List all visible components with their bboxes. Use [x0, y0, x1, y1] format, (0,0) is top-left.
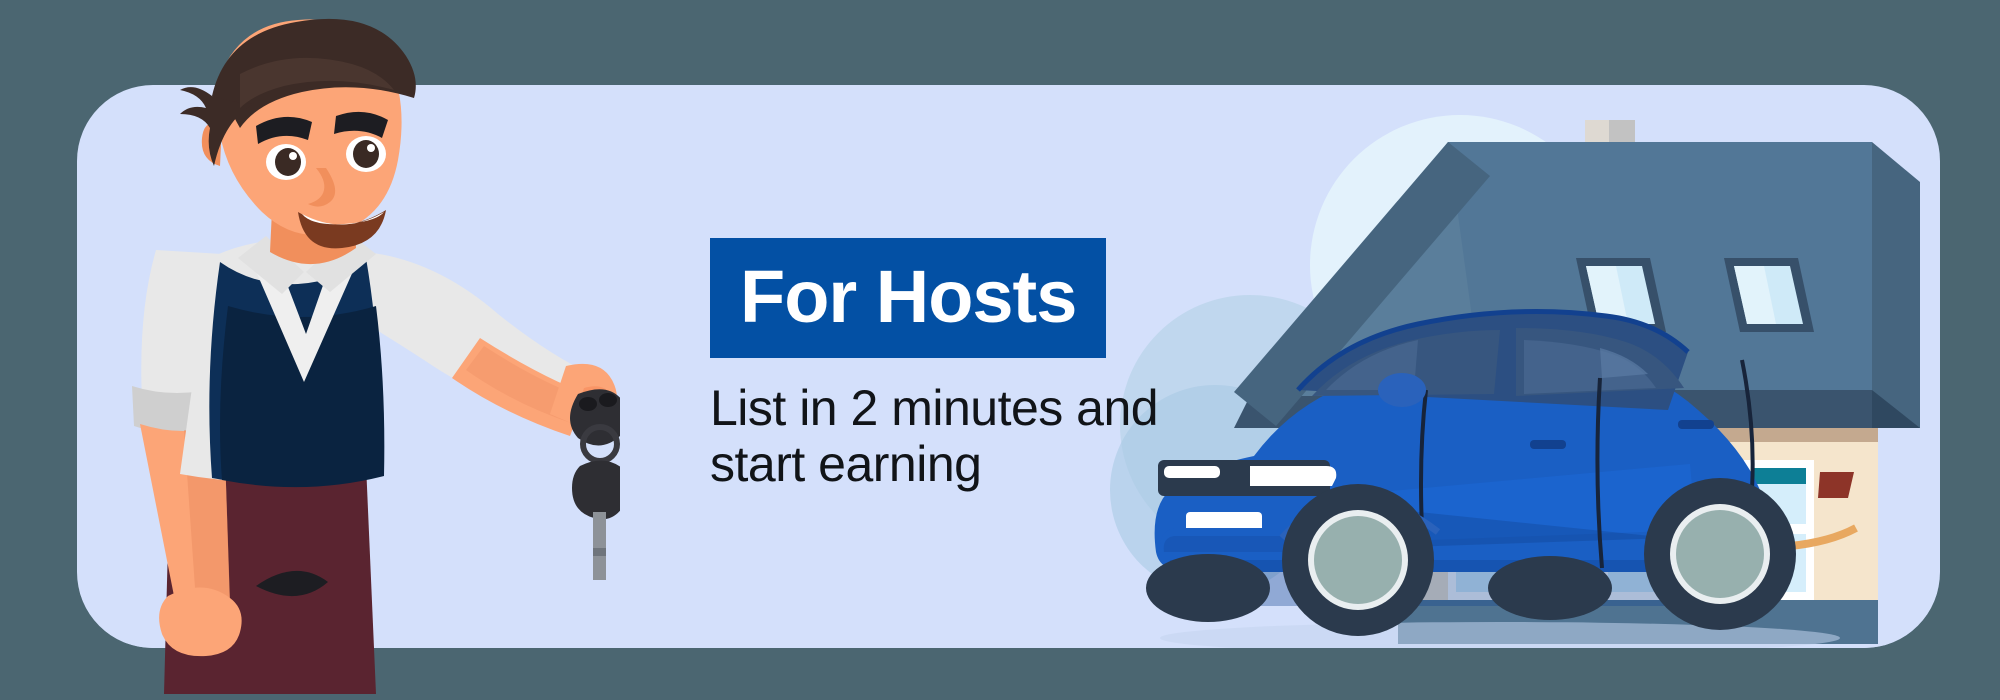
- banner-subtitle: List in 2 minutes and start earning: [710, 380, 1180, 492]
- character-head: [180, 19, 416, 264]
- text-block: For Hosts List in 2 minutes and start ea…: [710, 238, 1230, 492]
- character-body: [132, 232, 617, 694]
- host-character-illustration: [60, 0, 620, 700]
- for-hosts-badge[interactable]: For Hosts: [710, 238, 1106, 358]
- car-wheel-rear: [1644, 478, 1796, 630]
- house-and-car-illustration: [1130, 60, 2000, 700]
- car-wheel-front: [1282, 484, 1434, 636]
- banner-root: For Hosts List in 2 minutes and start ea…: [0, 0, 2000, 700]
- car-keys: [570, 389, 620, 580]
